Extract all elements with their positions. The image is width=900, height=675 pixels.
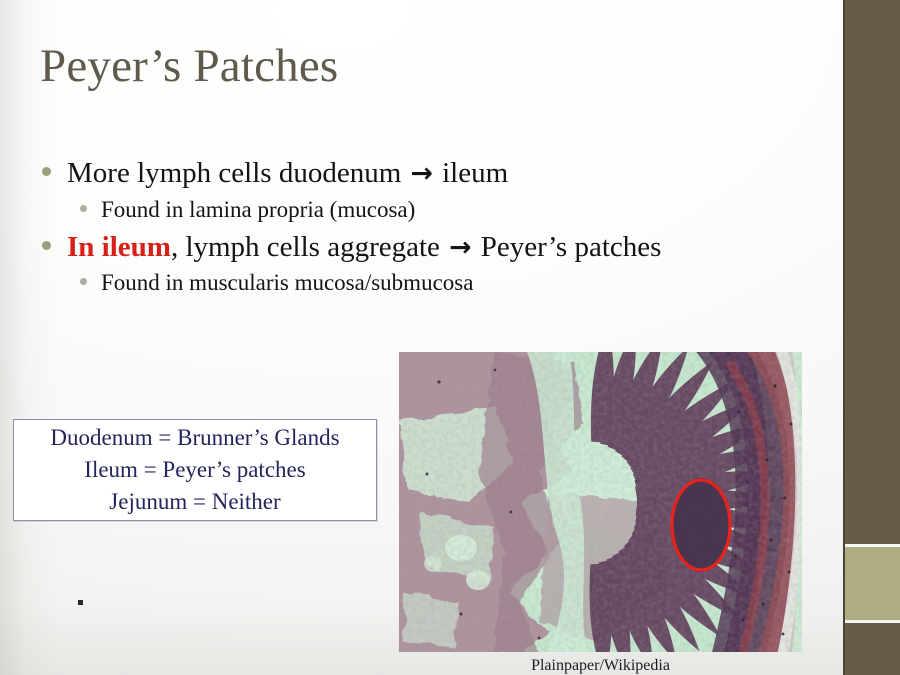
list-item: Found in muscularis mucosa/submucosa [80, 268, 832, 298]
summary-text-box: Duodenum = Brunner’s Glands Ileum = Peye… [13, 419, 377, 521]
page-title: Peyer’s Patches [40, 40, 338, 93]
list-item-text-part: More lymph cells duodenum [67, 157, 409, 189]
list-item-label: Found in lamina propria (mucosa) [101, 195, 415, 225]
rail-block-dark-bottom [845, 623, 900, 675]
right-decorative-rail [843, 0, 900, 675]
summary-line: Jejunum = Neither [109, 486, 280, 518]
histology-image [399, 352, 802, 652]
summary-line: Duodenum = Brunner’s Glands [50, 422, 339, 454]
right-arrow-icon: → [447, 232, 473, 263]
list-item-text-part: ileum [435, 157, 508, 189]
list-item-text-part: , lymph cells aggregate [171, 231, 447, 263]
list-item-text-part: Peyer’s patches [474, 231, 662, 263]
list-item: Found in lamina propria (mucosa) [80, 195, 832, 225]
list-item: In ileum, lymph cells aggregate → Peyer’… [42, 229, 832, 267]
rail-block-dark-top [845, 0, 900, 545]
list-item-label: In ileum, lymph cells aggregate → Peyer’… [67, 229, 661, 267]
right-arrow-icon: → [409, 158, 435, 189]
emphasis-text: In ileum [67, 231, 171, 263]
bullet-list: More lymph cells duodenum → ileum Found … [42, 155, 832, 302]
list-item: More lymph cells duodenum → ileum [42, 155, 832, 193]
slide-canvas: Peyer’s Patches More lymph cells duodenu… [0, 0, 900, 675]
stray-period-mark [78, 600, 83, 605]
bullet-dot-icon [42, 167, 51, 176]
summary-line: Ileum = Peyer’s patches [84, 454, 305, 486]
bullet-dot-icon [80, 205, 87, 212]
list-item-label: Found in muscularis mucosa/submucosa [101, 268, 473, 298]
rail-block-khaki [845, 547, 900, 621]
figure-caption: Plainpaper/Wikipedia [399, 657, 802, 675]
bullet-dot-icon [80, 278, 87, 285]
bullet-dot-icon [42, 241, 51, 250]
list-item-label: More lymph cells duodenum → ileum [67, 155, 508, 193]
